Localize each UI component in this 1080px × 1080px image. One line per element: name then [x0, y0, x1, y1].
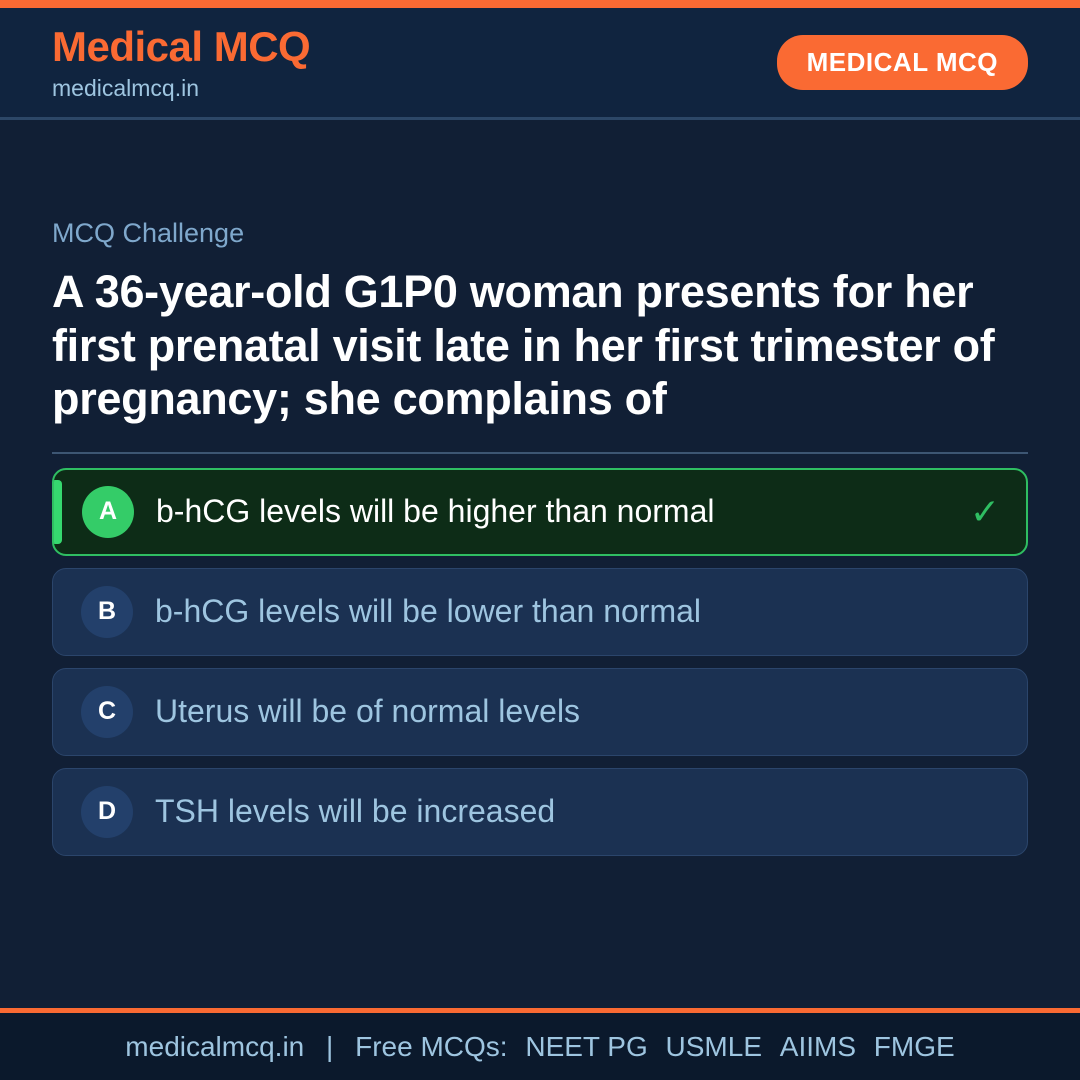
option-text-d: TSH levels will be increased	[155, 794, 1001, 829]
option-row-c[interactable]: C Uterus will be of normal levels	[52, 668, 1028, 756]
option-text-a: b-hCG levels will be higher than normal	[156, 494, 956, 529]
footer-exam-fmge: FMGE	[874, 1031, 955, 1062]
brand-title: Medical MCQ	[52, 26, 310, 68]
top-accent-strip	[0, 0, 1080, 8]
mcq-card: Medical MCQ medicalmcq.in MEDICAL MCQ MC…	[0, 0, 1080, 1080]
eyebrow-label: MCQ Challenge	[52, 220, 1028, 247]
option-row-d[interactable]: D TSH levels will be increased	[52, 768, 1028, 856]
footer-exam-aiims: AIIMS	[780, 1031, 856, 1062]
footer-text: medicalmcq.in | Free MCQs: NEET PG USMLE…	[125, 1031, 954, 1063]
option-text-b: b-hCG levels will be lower than normal	[155, 594, 1001, 629]
footer-label: Free MCQs:	[355, 1031, 507, 1062]
footer: medicalmcq.in | Free MCQs: NEET PG USMLE…	[0, 1008, 1080, 1080]
options-list: A b-hCG levels will be higher than norma…	[52, 468, 1028, 856]
option-badge-c: C	[81, 686, 133, 738]
footer-site: medicalmcq.in	[125, 1031, 304, 1062]
brand-subtitle: medicalmcq.in	[52, 77, 310, 100]
header-badge: MEDICAL MCQ	[777, 35, 1028, 90]
footer-exam-usmle: USMLE	[666, 1031, 762, 1062]
option-badge-a: A	[82, 486, 134, 538]
question-text: A 36-year-old G1P0 woman presents for he…	[52, 265, 1012, 426]
check-icon: ✓	[970, 494, 1000, 530]
option-row-a[interactable]: A b-hCG levels will be higher than norma…	[52, 468, 1028, 556]
header: Medical MCQ medicalmcq.in MEDICAL MCQ	[0, 8, 1080, 120]
footer-exam-list: NEET PG USMLE AIIMS FMGE	[515, 1031, 954, 1062]
question-divider	[52, 452, 1028, 454]
option-row-b[interactable]: B b-hCG levels will be lower than normal	[52, 568, 1028, 656]
main-content: MCQ Challenge A 36-year-old G1P0 woman p…	[0, 120, 1080, 1008]
footer-separator: |	[312, 1031, 347, 1062]
option-text-c: Uterus will be of normal levels	[155, 694, 1001, 729]
brand-block: Medical MCQ medicalmcq.in	[52, 26, 310, 100]
option-badge-b: B	[81, 586, 133, 638]
footer-exam-neetpg: NEET PG	[525, 1031, 647, 1062]
option-badge-d: D	[81, 786, 133, 838]
